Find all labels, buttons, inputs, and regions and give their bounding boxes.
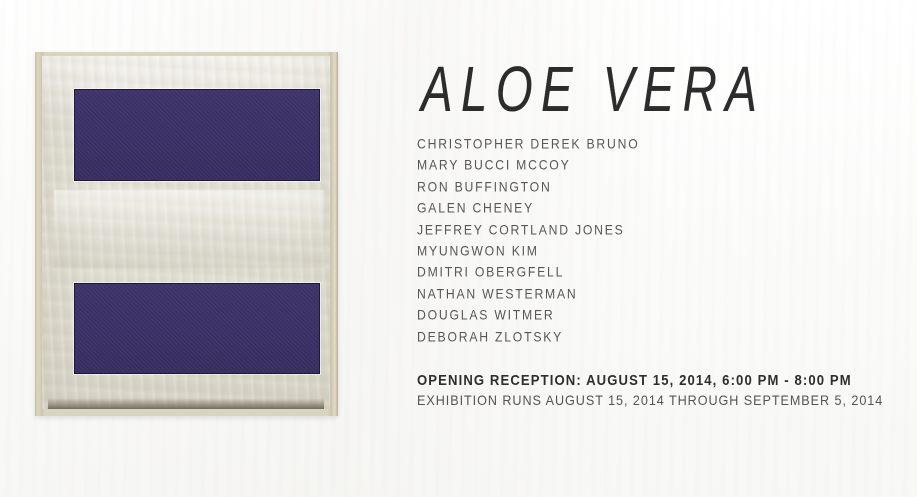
- list-item: GALEN CHENEY: [417, 197, 640, 220]
- canvas-bottom-shadow: [48, 398, 325, 409]
- exhibition-poster: ALOE VERA CHRISTOPHER DEREK BRUNO MARY B…: [0, 0, 917, 497]
- list-item: MYUNGWON KIM: [417, 239, 640, 262]
- canvas-face: [42, 56, 330, 409]
- canvas-edge: [35, 52, 338, 416]
- list-item: RON BUFFINGTON: [417, 175, 640, 198]
- opening-reception-text: OPENING RECEPTION: AUGUST 15, 2014, 6:00…: [417, 370, 883, 391]
- text-column: ALOE VERA CHRISTOPHER DEREK BRUNO MARY B…: [417, 0, 907, 497]
- list-item: JEFFREY CORTLAND JONES: [417, 218, 640, 241]
- list-item: NATHAN WESTERMAN: [417, 282, 640, 305]
- list-item: DEBORAH ZLOTSKY: [417, 325, 640, 348]
- painting-band-bottom: [74, 283, 320, 374]
- artist-list: CHRISTOPHER DEREK BRUNO MARY BUCCI MCCOY…: [417, 133, 654, 347]
- list-item: DOUGLAS WITMER: [417, 304, 640, 327]
- artwork-painting: [35, 52, 338, 416]
- mid-brush-sweep: [54, 190, 325, 268]
- list-item: DMITRI OBERGFELL: [417, 261, 640, 284]
- list-item: MARY BUCCI MCCOY: [417, 154, 640, 177]
- exhibition-run-dates-text: EXHIBITION RUNS AUGUST 15, 2014 THROUGH …: [417, 390, 883, 411]
- list-item: CHRISTOPHER DEREK BRUNO: [417, 132, 640, 155]
- event-details: OPENING RECEPTION: AUGUST 15, 2014, 6:00…: [417, 371, 898, 411]
- exhibition-title: ALOE VERA: [421, 53, 765, 126]
- painting-band-top: [74, 89, 320, 181]
